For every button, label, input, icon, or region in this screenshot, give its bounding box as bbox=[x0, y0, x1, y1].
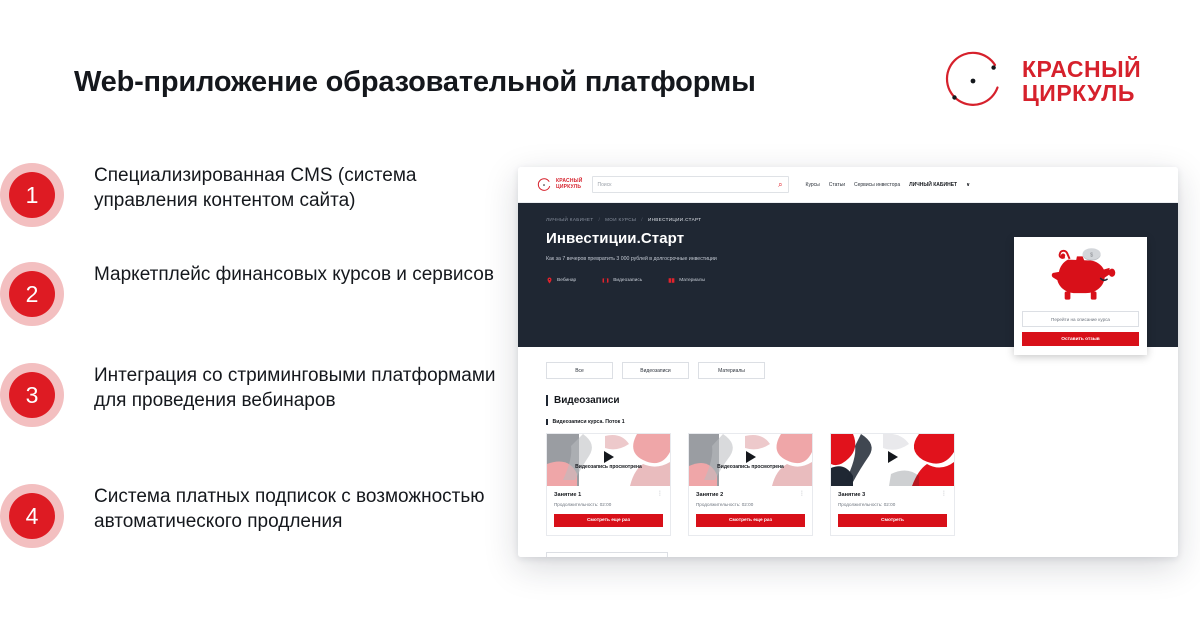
video-card-header-2: Занятие 2 ⋮ bbox=[696, 492, 805, 498]
video-thumbnail-3[interactable] bbox=[831, 434, 954, 486]
chevron-down-icon[interactable]: ∨ bbox=[966, 182, 970, 188]
site-nav: Курсы Статьи Сервисы инвестора ЛИЧНЫЙ КА… bbox=[806, 182, 971, 188]
play-icon-1[interactable] bbox=[604, 451, 614, 463]
course-content: Все Видеозаписи Материалы Видеозаписи Ви… bbox=[518, 347, 1178, 557]
feature-number-3: 3 bbox=[9, 372, 55, 418]
subsection-accent-bar bbox=[546, 419, 548, 425]
nav-item-account[interactable]: ЛИЧНЫЙ КАБИНЕТ bbox=[909, 182, 957, 188]
breadcrumb-separator-2: / bbox=[641, 217, 643, 222]
feature-text-4: Система платных подписок с возможностью … bbox=[94, 484, 524, 535]
slide-root: Web-приложение образовательной платформы… bbox=[0, 0, 1200, 630]
video-thumbnail-1[interactable]: Видеозапись просмотрена bbox=[547, 434, 670, 486]
site-header: КРАСНЫЙ ЦИРКУЛЬ Поиск ⌕ Курсы Статьи Сер… bbox=[518, 167, 1178, 203]
video-duration-value-3: 02:00 bbox=[884, 502, 896, 507]
video-thumbnail-2[interactable]: Видеозапись просмотрена bbox=[689, 434, 812, 486]
video-record-icon bbox=[602, 277, 609, 284]
feature-badge-3: 3 bbox=[0, 363, 64, 427]
subsection-title-text: Видеозаписи курса. Поток 1 bbox=[553, 419, 625, 425]
app-screenshot-mockup: КРАСНЫЙ ЦИРКУЛЬ Поиск ⌕ Курсы Статьи Сер… bbox=[518, 167, 1178, 557]
materials-book-icon bbox=[668, 277, 675, 284]
more-options-icon-3[interactable]: ⋮ bbox=[941, 492, 947, 496]
video-duration-value-2: 02:00 bbox=[742, 502, 754, 507]
feature-number-4: 4 bbox=[9, 493, 55, 539]
search-input[interactable]: Поиск ⌕ bbox=[592, 176, 789, 193]
watch-again-button-2[interactable]: Смотреть еще раз bbox=[696, 514, 805, 527]
course-meta-label-video: Видеозапись bbox=[613, 278, 642, 283]
video-card-2[interactable]: Видеозапись просмотрена Занятие 2 ⋮ Прод… bbox=[688, 433, 813, 536]
subsection-title: Видеозаписи курса. Поток 1 bbox=[546, 419, 1150, 425]
brand-wordmark: КРАСНЫЙ ЦИРКУЛЬ bbox=[1022, 57, 1141, 106]
video-card-body-3: Занятие 3 ⋮ Продолжительность: 02:00 Смо… bbox=[831, 486, 954, 535]
video-card-body-2: Занятие 2 ⋮ Продолжительность: 02:00 Смо… bbox=[689, 486, 812, 535]
tab-materials[interactable]: Материалы bbox=[698, 362, 765, 379]
more-options-icon-1[interactable]: ⋮ bbox=[657, 492, 663, 496]
video-duration-value-1: 02:00 bbox=[600, 502, 612, 507]
brand-logo: КРАСНЫЙ ЦИРКУЛЬ bbox=[938, 46, 1141, 116]
play-icon-2[interactable] bbox=[746, 451, 756, 463]
section-title: Видеозаписи bbox=[546, 395, 1150, 406]
video-card-list: Видеозапись просмотрена Занятие 1 ⋮ Прод… bbox=[546, 433, 1150, 536]
piggy-bank-icon: $ bbox=[1022, 245, 1139, 307]
feature-text-1: Специализированная CMS (система управлен… bbox=[94, 163, 524, 214]
feature-text-2: Маркетплейс финансовых курсов и сервисов bbox=[94, 262, 524, 287]
show-all-videos-button[interactable]: Показать все видеозаписи по курсу bbox=[546, 552, 668, 557]
search-icon[interactable]: ⌕ bbox=[778, 181, 782, 189]
feature-number-1: 1 bbox=[9, 172, 55, 218]
feature-text-3: Интеграция со стриминговыми платформами … bbox=[94, 363, 524, 414]
nav-item-articles[interactable]: Статьи bbox=[829, 182, 845, 188]
course-meta-webinar: Вебинар bbox=[546, 277, 576, 284]
video-title-2: Занятие 2 bbox=[696, 492, 723, 498]
watch-button-3[interactable]: Смотреть bbox=[838, 514, 947, 527]
course-meta-materials: Материалы bbox=[668, 277, 705, 284]
site-logo-text: КРАСНЫЙ ЦИРКУЛЬ bbox=[556, 179, 583, 191]
tab-videos[interactable]: Видеозаписи bbox=[622, 362, 689, 379]
leave-review-button[interactable]: Оставить отзыв bbox=[1022, 332, 1139, 346]
compass-circle-icon-small bbox=[536, 177, 552, 193]
nav-item-services[interactable]: Сервисы инвестора bbox=[854, 182, 900, 188]
video-duration-prefix-3: Продолжительность: bbox=[838, 502, 882, 507]
section-accent-bar bbox=[546, 395, 548, 406]
video-duration-prefix-1: Продолжительность: bbox=[554, 502, 598, 507]
more-options-icon-2[interactable]: ⋮ bbox=[799, 492, 805, 496]
compass-circle-icon bbox=[938, 46, 1008, 116]
video-title-1: Занятие 1 bbox=[554, 492, 581, 498]
video-duration-prefix-2: Продолжительность: bbox=[696, 502, 740, 507]
video-title-3: Занятие 3 bbox=[838, 492, 865, 498]
play-icon-3[interactable] bbox=[888, 451, 898, 463]
site-logo[interactable]: КРАСНЫЙ ЦИРКУЛЬ bbox=[536, 177, 583, 193]
watched-label-2: Видеозапись просмотрена bbox=[689, 464, 812, 470]
video-card-header-3: Занятие 3 ⋮ bbox=[838, 492, 947, 498]
video-duration-3: Продолжительность: 02:00 bbox=[838, 502, 947, 507]
feature-number-2: 2 bbox=[9, 271, 55, 317]
course-hero: ЛИЧНЫЙ КАБИНЕТ / МОИ КУРСЫ / ИНВЕСТИЦИИ.… bbox=[518, 203, 1178, 347]
brand-line-1: КРАСНЫЙ bbox=[1022, 57, 1141, 81]
breadcrumb-item-3: ИНВЕСТИЦИИ.СТАРТ bbox=[648, 217, 701, 222]
page-title: Web-приложение образовательной платформы bbox=[74, 66, 874, 99]
video-duration-1: Продолжительность: 02:00 bbox=[554, 502, 663, 507]
video-card-header-1: Занятие 1 ⋮ bbox=[554, 492, 663, 498]
video-duration-2: Продолжительность: 02:00 bbox=[696, 502, 805, 507]
section-title-text: Видеозаписи bbox=[554, 395, 620, 406]
feature-badge-4: 4 bbox=[0, 484, 64, 548]
video-card-3[interactable]: Занятие 3 ⋮ Продолжительность: 02:00 Смо… bbox=[830, 433, 955, 536]
nav-item-courses[interactable]: Курсы bbox=[806, 182, 820, 188]
course-meta-label-materials: Материалы bbox=[679, 278, 705, 283]
course-meta-label-webinar: Вебинар bbox=[557, 278, 576, 283]
feature-badge-2: 2 bbox=[0, 262, 64, 326]
search-placeholder: Поиск bbox=[598, 182, 612, 188]
watch-again-button-1[interactable]: Смотреть еще раз bbox=[554, 514, 663, 527]
breadcrumb-item-2[interactable]: МОИ КУРСЫ bbox=[605, 217, 636, 222]
content-tabs: Все Видеозаписи Материалы bbox=[546, 362, 1150, 379]
go-to-course-description-button[interactable]: Перейти на описание курса bbox=[1022, 311, 1139, 327]
brand-line-2: ЦИРКУЛЬ bbox=[1022, 81, 1141, 105]
breadcrumb-separator-1: / bbox=[598, 217, 600, 222]
webinar-pin-icon bbox=[546, 277, 553, 284]
video-card-1[interactable]: Видеозапись просмотрена Занятие 1 ⋮ Прод… bbox=[546, 433, 671, 536]
breadcrumb: ЛИЧНЫЙ КАБИНЕТ / МОИ КУРСЫ / ИНВЕСТИЦИИ.… bbox=[546, 217, 1178, 222]
video-card-body-1: Занятие 1 ⋮ Продолжительность: 02:00 Смо… bbox=[547, 486, 670, 535]
course-meta-video: Видеозапись bbox=[602, 277, 642, 284]
breadcrumb-item-1[interactable]: ЛИЧНЫЙ КАБИНЕТ bbox=[546, 217, 593, 222]
site-logo-line-2: ЦИРКУЛЬ bbox=[556, 185, 583, 191]
watched-label-1: Видеозапись просмотрена bbox=[547, 464, 670, 470]
feature-badge-1: 1 bbox=[0, 163, 64, 227]
tab-all[interactable]: Все bbox=[546, 362, 613, 379]
course-side-card: $ Перейти на описание курса Оставить отз… bbox=[1014, 237, 1147, 355]
